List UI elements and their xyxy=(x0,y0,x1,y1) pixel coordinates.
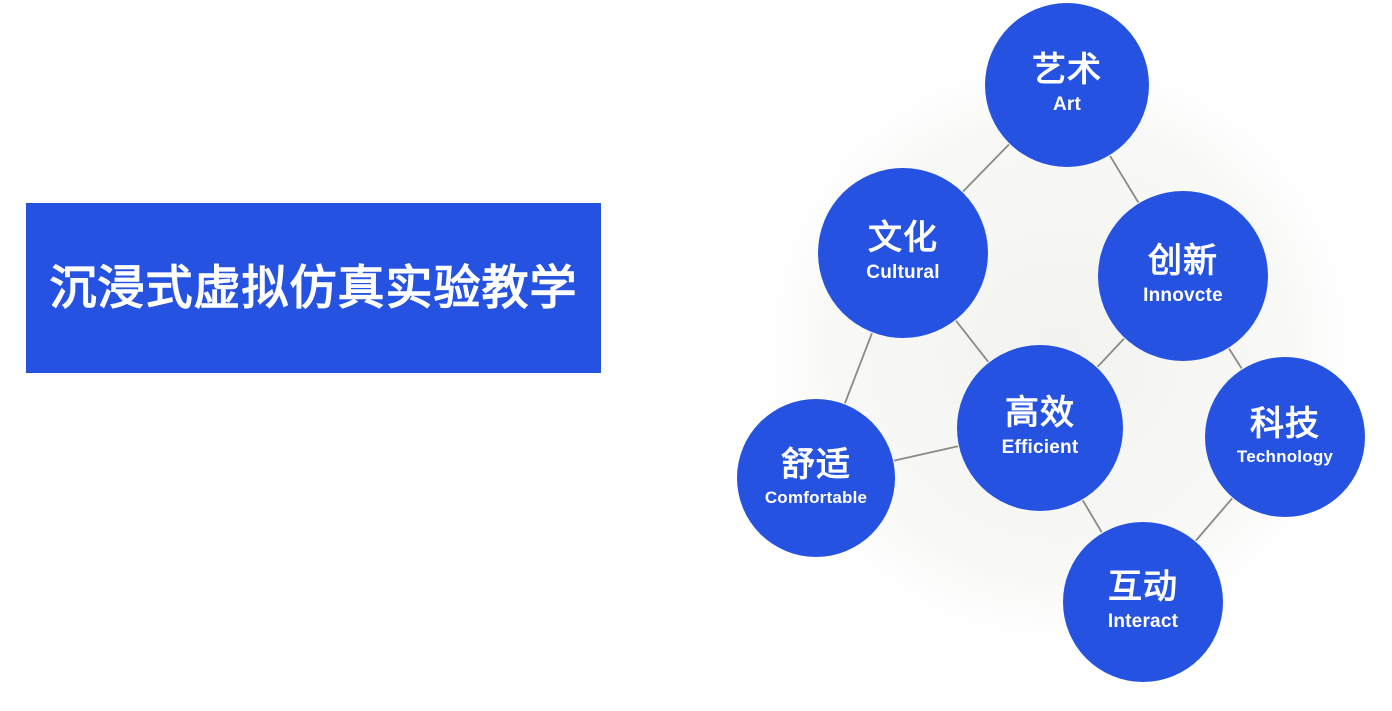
node-comfortable[interactable]: 舒适Comfortable xyxy=(737,399,895,557)
node-art[interactable]: 艺术Art xyxy=(985,3,1149,167)
node-cultural[interactable]: 文化Cultural xyxy=(818,168,988,338)
node-innovcte[interactable]: 创新Innovcte xyxy=(1098,191,1268,361)
node-innovcte-label-cn: 创新 xyxy=(1148,244,1218,279)
node-interact[interactable]: 互动Interact xyxy=(1063,522,1223,682)
node-art-label-cn: 艺术 xyxy=(1032,53,1102,88)
node-efficient-label-cn: 高效 xyxy=(1005,396,1075,431)
node-innovcte-label-en: Innovcte xyxy=(1143,285,1223,308)
node-efficient[interactable]: 高效Efficient xyxy=(957,345,1123,511)
node-comfortable-label-en: Comfortable xyxy=(765,488,867,508)
page-title: 沉浸式虚拟仿真实验教学 xyxy=(50,265,578,312)
node-art-label-en: Art xyxy=(1053,94,1081,117)
node-technology[interactable]: 科技Technology xyxy=(1205,357,1365,517)
concept-network-diagram: 艺术Art文化Cultural创新Innovcte科技Technology高效E… xyxy=(700,0,1392,711)
node-comfortable-label-cn: 舒适 xyxy=(781,448,851,483)
node-efficient-label-en: Efficient xyxy=(1002,437,1079,460)
node-interact-label-cn: 互动 xyxy=(1108,570,1178,605)
node-technology-label-cn: 科技 xyxy=(1250,407,1320,442)
node-cultural-label-en: Cultural xyxy=(866,262,939,285)
title-banner: 沉浸式虚拟仿真实验教学 xyxy=(26,203,601,373)
node-technology-label-en: Technology xyxy=(1237,447,1333,467)
node-interact-label-en: Interact xyxy=(1108,611,1178,634)
node-cultural-label-cn: 文化 xyxy=(868,221,938,256)
